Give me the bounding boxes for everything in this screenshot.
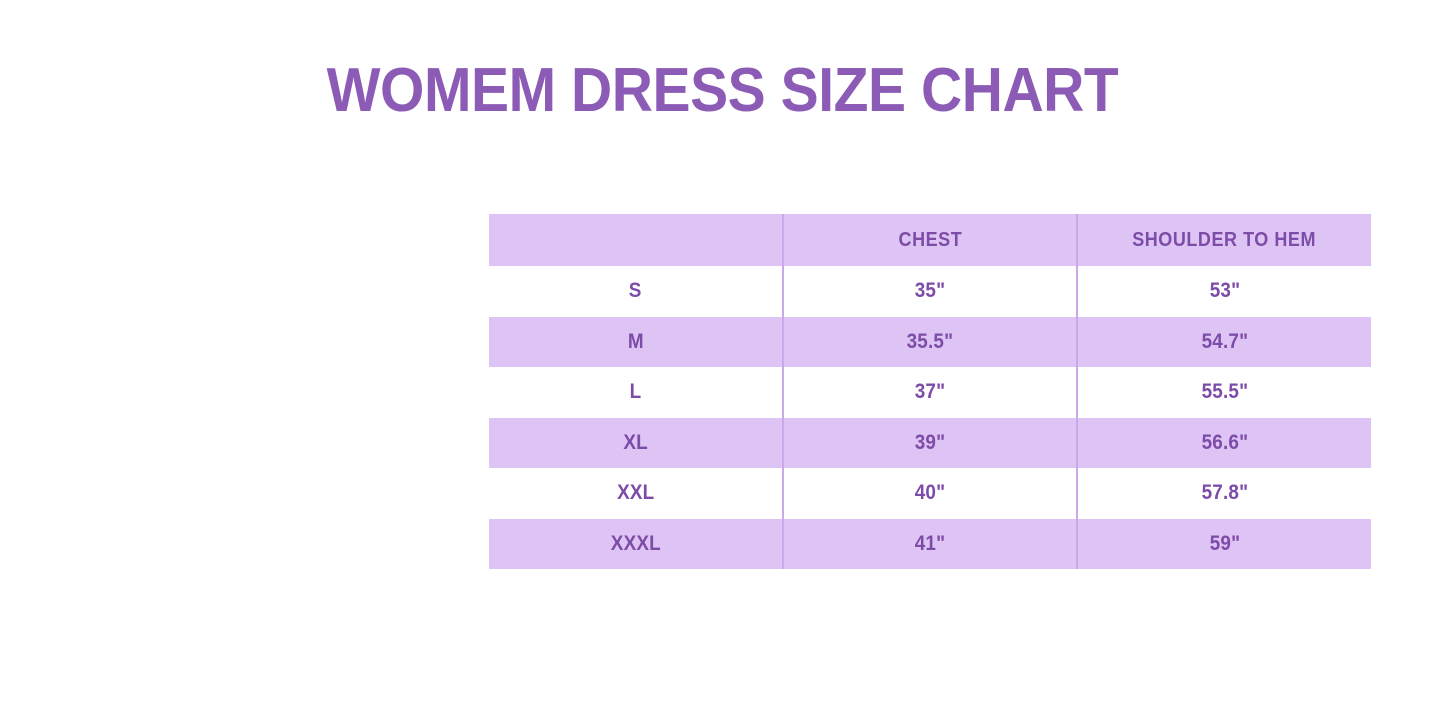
cell-size: XXL — [489, 468, 783, 519]
table-row: XL 39" 56.6" — [489, 418, 1371, 469]
chest-value: 40" — [915, 481, 946, 505]
cell-size: M — [489, 317, 783, 368]
cell-shoulder-to-hem: 56.6" — [1077, 418, 1371, 469]
cell-shoulder-to-hem: 57.8" — [1077, 468, 1371, 519]
table-row: M 35.5" 54.7" — [489, 317, 1371, 368]
cell-chest: 40" — [783, 468, 1077, 519]
header-label-shoulder-to-hem: SHOULDER TO HEM — [1133, 229, 1317, 252]
header-cell-size — [489, 214, 783, 266]
page-title: WOMEM DRESS SIZE CHART — [58, 55, 1387, 127]
table-row: XXL 40" 57.8" — [489, 468, 1371, 519]
cell-shoulder-to-hem: 54.7" — [1077, 317, 1371, 368]
cell-chest: 35" — [783, 266, 1077, 317]
size-label: S — [629, 279, 642, 303]
shoulder-to-hem-value: 56.6" — [1201, 431, 1248, 455]
cell-size: L — [489, 367, 783, 418]
header-cell-chest: CHEST — [783, 214, 1077, 266]
shoulder-to-hem-value: 54.7" — [1201, 330, 1248, 354]
shoulder-to-hem-value: 57.8" — [1201, 481, 1248, 505]
chest-value: 37" — [915, 380, 946, 404]
cell-size: XXXL — [489, 519, 783, 570]
size-label: M — [628, 330, 644, 354]
table-row: L 37" 55.5" — [489, 367, 1371, 418]
cell-chest: 39" — [783, 418, 1077, 469]
table-header-row: CHEST SHOULDER TO HEM — [489, 214, 1371, 266]
shoulder-to-hem-value: 59" — [1209, 532, 1240, 556]
chest-value: 39" — [915, 431, 946, 455]
table-row: XXXL 41" 59" — [489, 519, 1371, 570]
cell-shoulder-to-hem: 55.5" — [1077, 367, 1371, 418]
table-row: S 35" 53" — [489, 266, 1371, 317]
cell-shoulder-to-hem: 59" — [1077, 519, 1371, 570]
chest-value: 35" — [915, 279, 946, 303]
chest-value: 41" — [915, 532, 946, 556]
header-label-chest: CHEST — [898, 229, 962, 252]
size-label: L — [630, 380, 642, 404]
size-chart-page: WOMEM DRESS SIZE CHART CHEST SHOULDER TO… — [0, 0, 1445, 723]
size-chart-table: CHEST SHOULDER TO HEM S 35" 53" — [489, 214, 1371, 569]
size-label: XXXL — [610, 532, 660, 556]
cell-shoulder-to-hem: 53" — [1077, 266, 1371, 317]
size-label: XXL — [617, 481, 654, 505]
cell-chest: 41" — [783, 519, 1077, 570]
size-label: XL — [623, 431, 648, 455]
cell-chest: 35.5" — [783, 317, 1077, 368]
cell-chest: 37" — [783, 367, 1077, 418]
cell-size: S — [489, 266, 783, 317]
shoulder-to-hem-value: 55.5" — [1201, 380, 1248, 404]
cell-size: XL — [489, 418, 783, 469]
chest-value: 35.5" — [907, 330, 954, 354]
header-cell-shoulder-to-hem: SHOULDER TO HEM — [1077, 214, 1371, 266]
shoulder-to-hem-value: 53" — [1209, 279, 1240, 303]
